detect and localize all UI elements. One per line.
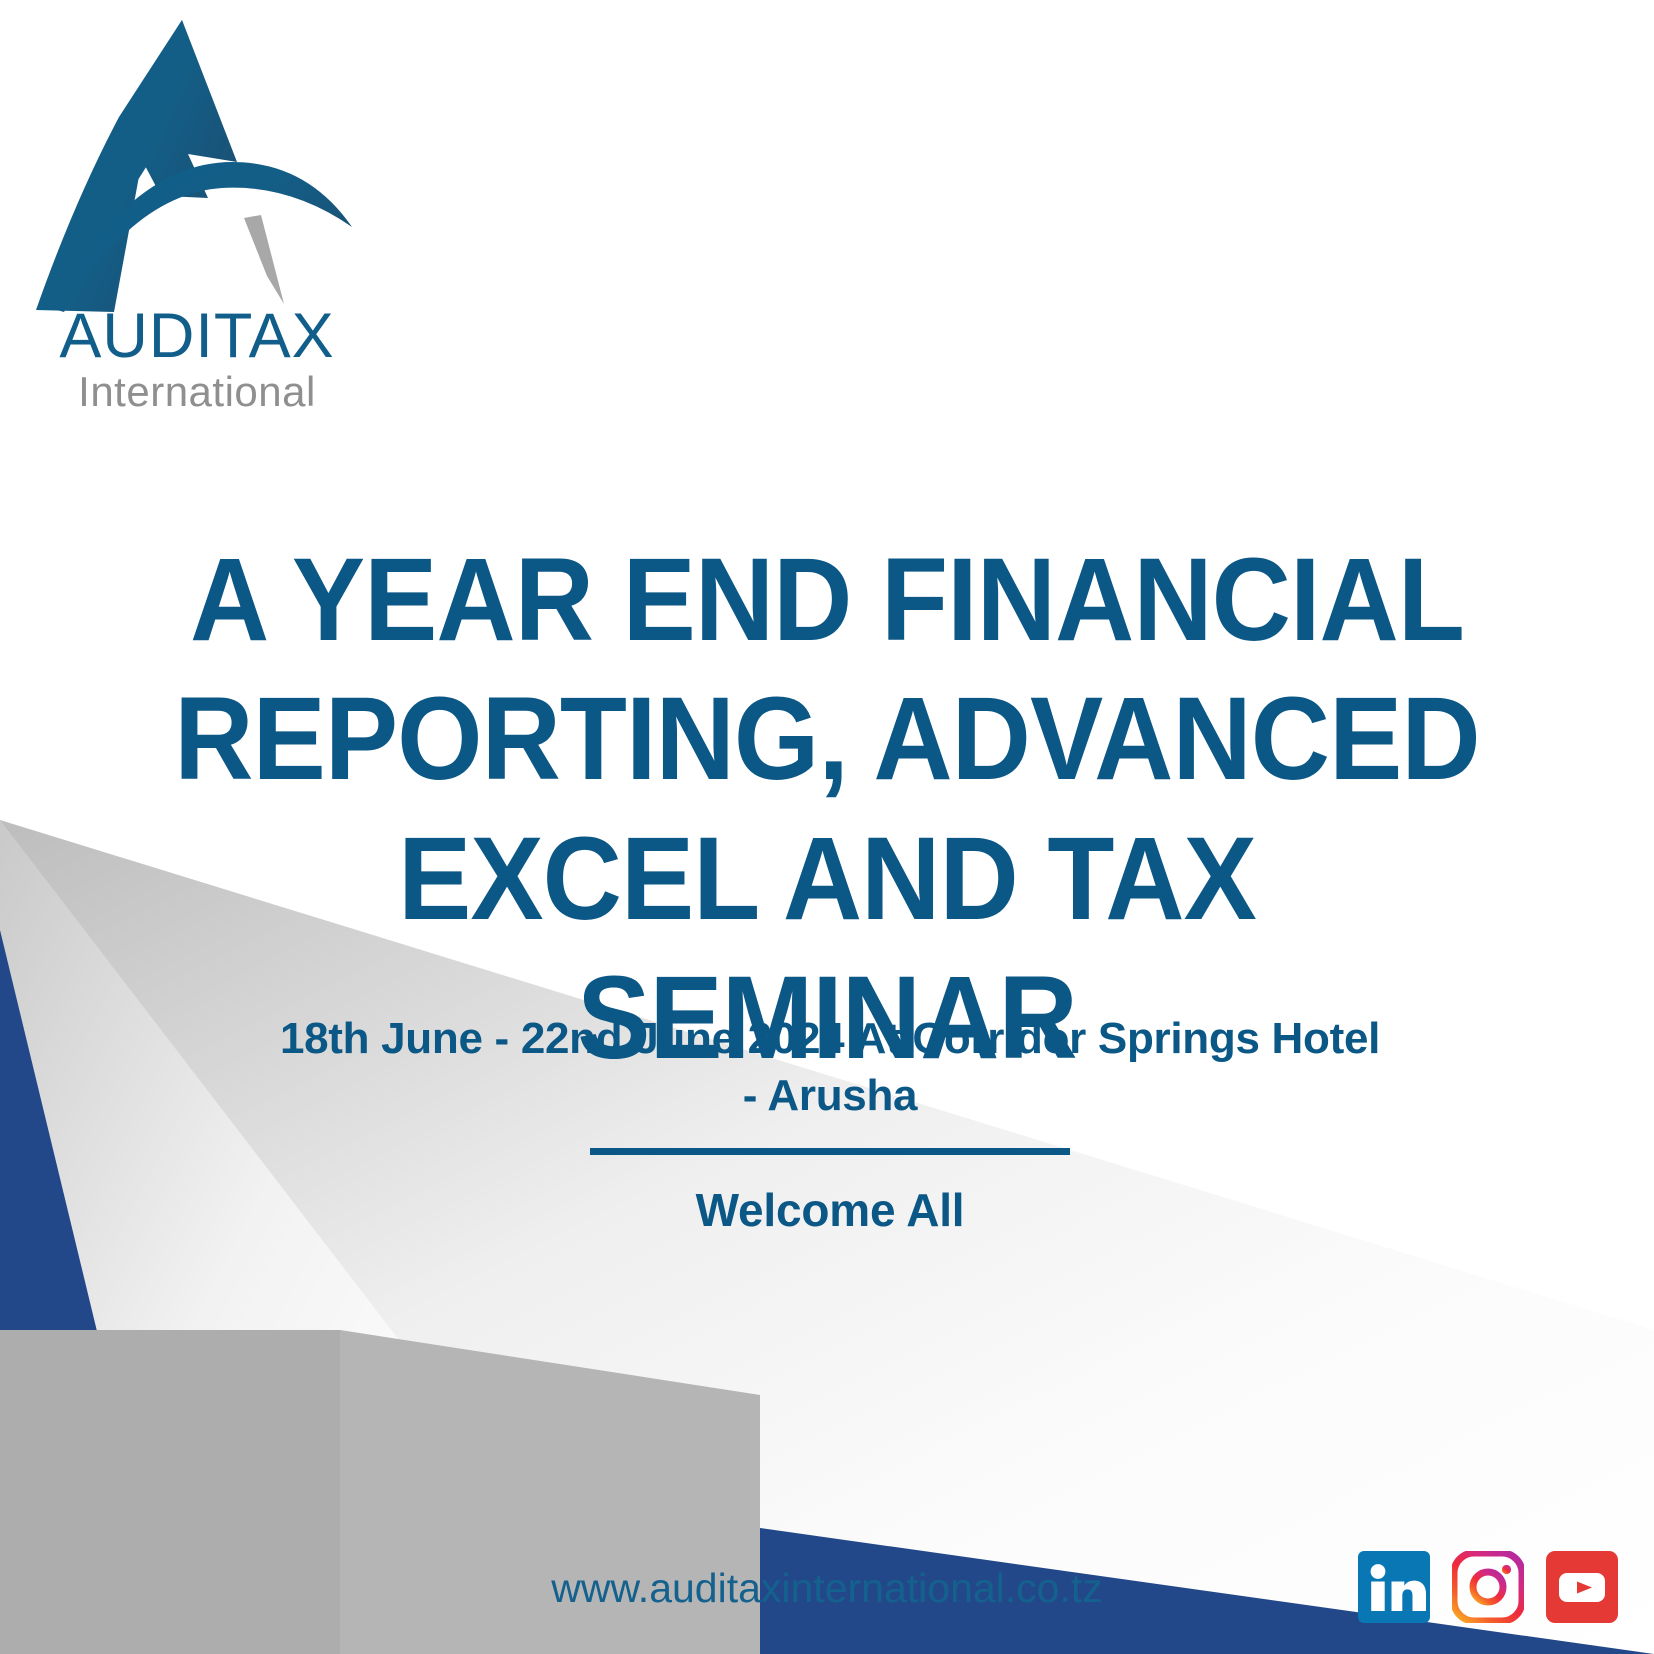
auditax-arrow-swoosh-icon [22,12,352,312]
welcome-text: Welcome All [140,1183,1520,1237]
poster-canvas: AUDITAX International A YEAR END FINANCI… [0,0,1654,1654]
event-date-venue: 18th June - 22nd June 2024 At Corridor S… [140,1010,1520,1067]
instagram-icon[interactable] [1452,1551,1524,1623]
linkedin-icon[interactable] [1358,1551,1430,1623]
logo: AUDITAX International [22,12,352,412]
logo-subtitle-text: International [52,370,342,414]
headline-line-1: A YEAR END FINANCIAL [95,531,1559,670]
social-links [1358,1551,1618,1623]
logo-name-text: AUDITAX [52,306,342,368]
page-title: A YEAR END FINANCIAL REPORTING, ADVANCED… [95,531,1559,1088]
youtube-icon[interactable] [1546,1551,1618,1623]
event-city: - Arusha [140,1067,1520,1124]
headline-line-3: EXCEL AND TAX [95,810,1559,949]
divider [590,1148,1070,1155]
logo-wordmark: AUDITAX International [52,306,342,414]
headline-line-2: REPORTING, ADVANCED [95,670,1559,809]
event-details: 18th June - 22nd June 2024 At Corridor S… [140,1010,1520,1237]
